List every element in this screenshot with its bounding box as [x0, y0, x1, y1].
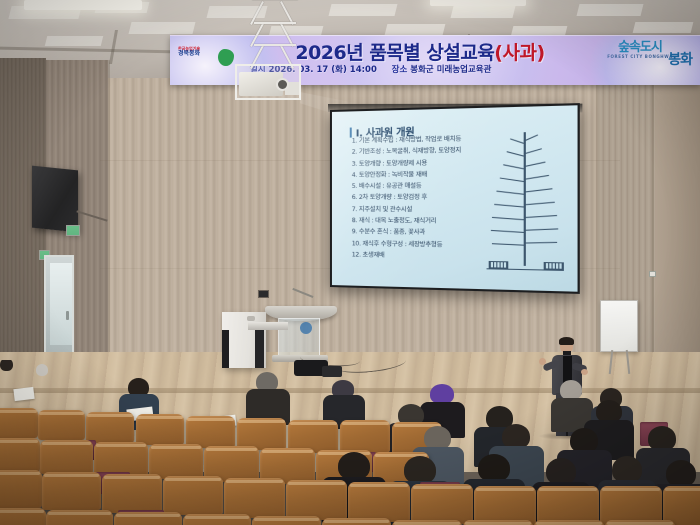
slide-item: 9. 수분수 혼식 : 품종, 꽃사과 [352, 230, 498, 238]
auditorium-seat[interactable] [348, 482, 410, 522]
banner-title-highlight: 사과 [502, 42, 536, 64]
audience-seating [0, 360, 700, 525]
handout-paper [13, 387, 34, 401]
banner-title-paren-close: ) [536, 42, 544, 64]
door-handle-icon[interactable] [66, 311, 69, 320]
slide-item: 7. 지주설치 및 관수시설 [352, 207, 498, 214]
door-glass [50, 263, 72, 345]
auditorium-seat[interactable] [46, 510, 113, 525]
auditorium-seat[interactable] [463, 520, 533, 525]
banner-place-value: 봉화군 미래농업교육관 [410, 65, 491, 75]
lectern-emblem-icon [300, 322, 312, 334]
banner-title-main: 2026년 품목별 상설교육 [295, 42, 494, 64]
auditorium-seat[interactable] [286, 480, 347, 520]
auditorium-seat[interactable] [42, 472, 101, 510]
slide-item: 6. 2차 토양개량 : 토양검정 후 [352, 195, 498, 202]
auditorium-seat[interactable] [136, 414, 184, 445]
auditorium-photo: 한국농업기술 경북봉화 2026년 품목별 상설교육(사과) 일시 2026. … [0, 0, 700, 525]
logo-right-line3: 봉화 [668, 53, 692, 67]
whiteboard [600, 300, 638, 352]
slide-item: 5. 배수시설 : 유공관 매설등 [352, 183, 498, 190]
logo-left: 한국농업기술 경북봉화 [178, 47, 236, 73]
auditorium-seat[interactable] [163, 476, 223, 515]
auditorium-seat[interactable] [411, 484, 473, 524]
auditorium-seat[interactable] [0, 438, 40, 472]
slide-item: 12. 초생재배 [352, 252, 498, 261]
auditorium-seat[interactable] [40, 440, 93, 474]
exit-sign-icon [66, 225, 80, 236]
auditorium-seat[interactable] [86, 412, 134, 443]
auditorium-seat[interactable] [38, 410, 85, 440]
loudspeaker-icon [32, 166, 78, 233]
slide-item: 3. 토양개량 : 토양개량제 시용 [352, 160, 498, 168]
slide-item: 10. 재식후 수형구성 : 세장방추형등 [352, 241, 498, 249]
auditorium-seat[interactable] [0, 470, 42, 508]
side-door[interactable] [44, 255, 74, 365]
auditorium-seat[interactable] [114, 512, 182, 525]
ceiling-light [24, 0, 142, 10]
banner-place-label: 장소 [392, 65, 408, 75]
projector-lens-icon [276, 78, 289, 91]
auditorium-seat[interactable] [0, 508, 46, 525]
wall-outlet-icon [649, 271, 656, 277]
auditorium-seat[interactable] [392, 520, 462, 525]
av-cabinet-knob-icon[interactable] [247, 316, 255, 321]
projector-scissor-lift [252, 0, 298, 70]
auditorium-seat[interactable] [224, 478, 285, 518]
wall-av-plate [258, 290, 269, 298]
slide-item: 8. 재식 : 대목 노출정도, 재식거리 [352, 218, 498, 225]
presenter-hair [559, 337, 574, 345]
auditorium-seat[interactable] [534, 520, 604, 525]
auditorium-seat[interactable] [0, 408, 38, 438]
slide-item: 4. 토양안정화 : 녹비작물 재배 [352, 172, 498, 179]
logo-right: 숲속도시 FOREST CITY BONGHWA 봉화 [586, 41, 694, 81]
auditorium-seat[interactable] [252, 516, 321, 525]
auditorium-seat[interactable] [102, 474, 162, 513]
apple-tree-diagram-icon [482, 125, 568, 278]
slide-item: 2. 기반조성 : 노목굴취, 식재방향, 토양정지 [352, 148, 498, 156]
auditorium-seat[interactable] [183, 514, 251, 525]
auditorium-seat[interactable] [340, 420, 390, 453]
auditorium-seat[interactable] [322, 518, 391, 525]
auditorium-seat[interactable] [605, 520, 675, 525]
projection-screen: Ⅰ. 사과원 개원 1. 기본 계획수립 : 재식방법, 작업로 배치등 2. … [330, 103, 580, 294]
ceiling-light [430, 0, 526, 6]
av-cabinet-shelf [248, 322, 288, 330]
slide-bullet-list: 1. 기본 계획수립 : 재식방법, 작업로 배치등 2. 기반조성 : 노목굴… [352, 136, 498, 267]
slide-item: 1. 기본 계획수립 : 재식방법, 작업로 배치등 [352, 136, 498, 145]
